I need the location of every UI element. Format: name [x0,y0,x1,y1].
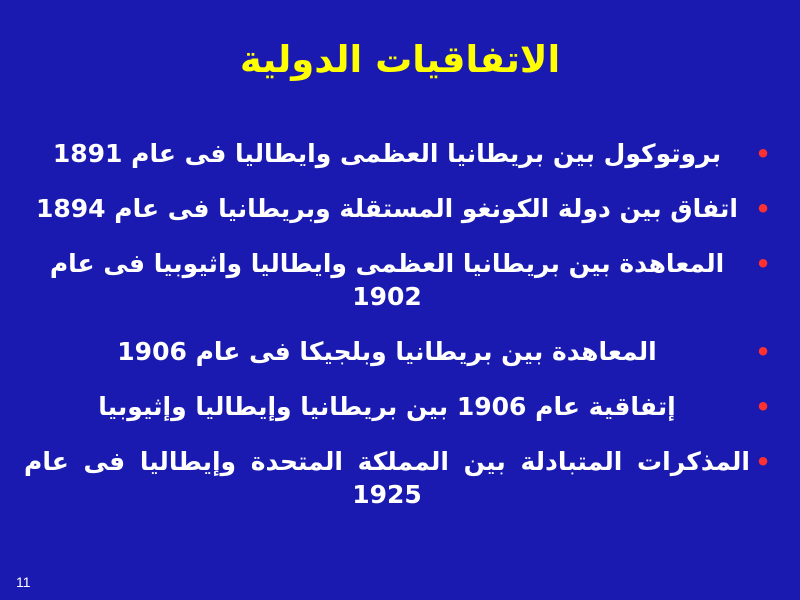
list-item: • المعاهدة بين بريطانيا وبلجيكا فى عام 1… [24,335,776,368]
bullet-point-icon: • [750,390,776,422]
list-item: • بروتوكول بين بريطانيا العظمى وايطاليا … [24,137,776,170]
list-item: • إتفاقية عام 1906 بين بريطانيا وإيطاليا… [24,390,776,423]
list-item-text: المذكرات المتبادلة بين المملكة المتحدة و… [24,445,750,511]
list-item-text: المعاهدة بين بريطانيا وبلجيكا فى عام 190… [24,335,750,368]
bullet-point-icon: • [750,445,776,477]
bullet-list: • بروتوكول بين بريطانيا العظمى وايطاليا … [24,137,776,533]
list-item-text: المعاهدة بين بريطانيا العظمى وايطاليا وا… [24,247,750,313]
list-item: • المذكرات المتبادلة بين المملكة المتحدة… [24,445,776,511]
page-number: 11 [16,574,31,590]
bullet-point-icon: • [750,192,776,224]
slide-title: الاتفاقيات الدولية [0,38,800,81]
list-item-text: بروتوكول بين بريطانيا العظمى وايطاليا فى… [24,137,750,170]
list-item-text: اتفاق بين دولة الكونغو المستقلة وبريطاني… [24,192,750,225]
bullet-point-icon: • [750,137,776,169]
bullet-point-icon: • [750,247,776,279]
bullet-point-icon: • [750,335,776,367]
list-item-text: إتفاقية عام 1906 بين بريطانيا وإيطاليا و… [24,390,750,423]
list-item: • المعاهدة بين بريطانيا العظمى وايطاليا … [24,247,776,313]
presentation-slide: الاتفاقيات الدولية • بروتوكول بين بريطان… [0,0,800,600]
list-item: • اتفاق بين دولة الكونغو المستقلة وبريطا… [24,192,776,225]
